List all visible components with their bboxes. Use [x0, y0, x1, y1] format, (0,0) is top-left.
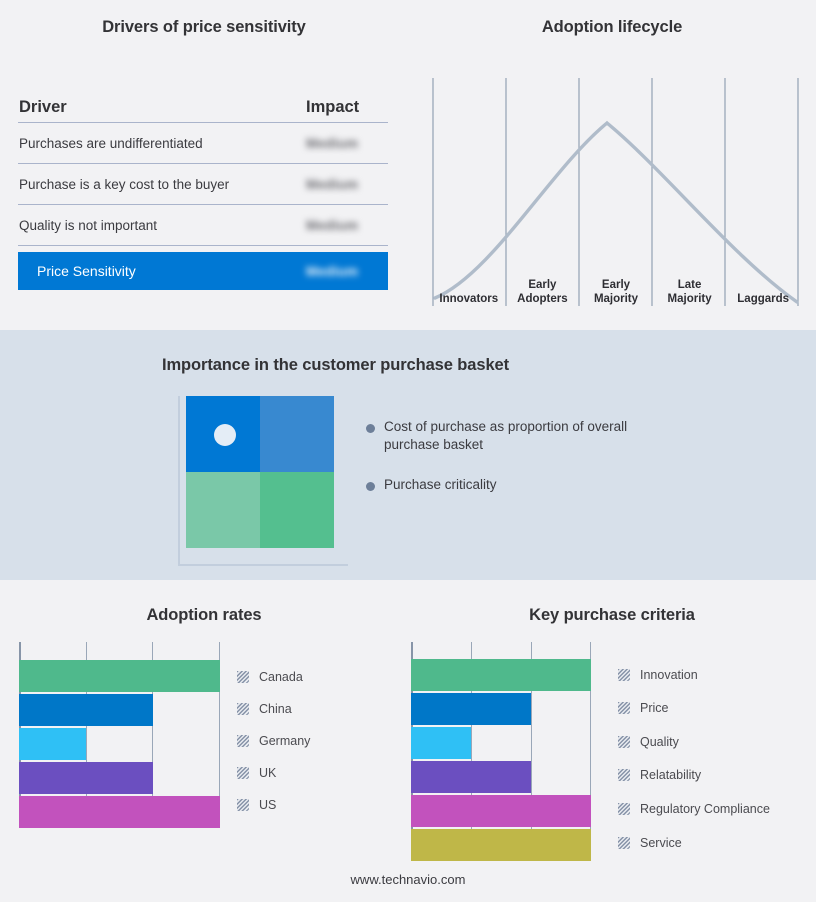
bar-china: [19, 694, 153, 726]
legend-item-quality: Quality: [618, 735, 679, 749]
quadrant-bottom-left: [186, 472, 260, 548]
legend-label: Regulatory Compliance: [640, 802, 770, 816]
legend-label: China: [259, 702, 292, 716]
hatched-square-icon: [237, 735, 249, 747]
legend-label: US: [259, 798, 276, 812]
key-purchase-criteria-legend: Innovation Price Quality Relatability Re…: [618, 642, 813, 852]
key-purchase-criteria-title: Key purchase criteria: [408, 606, 816, 625]
drivers-table: Driver Impact Purchases are undifferenti…: [18, 92, 388, 290]
legend-item: Cost of purchase as proportion of overal…: [366, 418, 666, 454]
hatched-square-icon: [618, 736, 630, 748]
drivers-panel-title: Drivers of price sensitivity: [0, 18, 408, 37]
lifecycle-stage-laggards: Laggards: [726, 292, 800, 310]
quadrant-top-right: [260, 396, 334, 472]
lifecycle-stage-innovators: Innovators: [432, 292, 506, 310]
hatched-square-icon: [237, 799, 249, 811]
hatched-square-icon: [237, 671, 249, 683]
legend-item-germany: Germany: [237, 734, 310, 748]
importance-panel: Importance in the customer purchase bask…: [0, 330, 816, 580]
hatched-square-icon: [618, 803, 630, 815]
footer-url: www.technavio.com: [0, 872, 816, 887]
bar-canada: [19, 660, 220, 692]
bar-service: [411, 829, 591, 861]
column-header-impact: Impact: [302, 98, 388, 117]
hatched-square-icon: [618, 702, 630, 714]
bar-regulatory-compliance: [411, 795, 591, 827]
legend-item-price: Price: [618, 701, 668, 715]
legend-item-relatability: Relatability: [618, 768, 701, 782]
lifecycle-stage-early-adopters: Early Adopters: [506, 278, 580, 310]
driver-label: Purchases are undifferentiated: [18, 136, 302, 151]
legend-item-china: China: [237, 702, 292, 716]
hatched-square-icon: [618, 769, 630, 781]
table-header-row: Driver Impact: [18, 92, 388, 123]
legend-label: Innovation: [640, 668, 698, 682]
driver-label: Purchase is a key cost to the buyer: [18, 177, 302, 192]
key-purchase-criteria-chart: [411, 642, 591, 838]
hatched-square-icon: [618, 669, 630, 681]
legend-label: Germany: [259, 734, 310, 748]
legend-item-uk: UK: [237, 766, 276, 780]
impact-value: Medium: [302, 218, 388, 233]
summary-label: Price Sensitivity: [36, 263, 302, 279]
legend-item: Purchase criticality: [366, 476, 666, 494]
drivers-panel: Drivers of price sensitivity Driver Impa…: [0, 0, 408, 330]
quadrant-bottom-right: [260, 472, 334, 548]
legend-label: Relatability: [640, 768, 701, 782]
legend-label: Canada: [259, 670, 303, 684]
bar-uk: [19, 762, 153, 794]
impact-value: Medium: [302, 177, 388, 192]
summary-impact-value: Medium: [302, 264, 388, 279]
legend-item-us: US: [237, 798, 276, 812]
bullet-icon: [366, 424, 375, 433]
quadrant-grid: [186, 396, 334, 548]
table-row: Purchases are undifferentiated Medium: [18, 123, 388, 164]
lifecycle-stage-late-majority: Late Majority: [653, 278, 727, 310]
bar-innovation: [411, 659, 591, 691]
legend-label: Quality: [640, 735, 679, 749]
legend-label: Service: [640, 836, 682, 850]
lifecycle-stage-labels: Innovators Early Adopters Early Majority…: [432, 270, 800, 310]
adoption-rates-title: Adoption rates: [0, 606, 408, 625]
price-sensitivity-summary-row: Price Sensitivity Medium: [18, 252, 388, 290]
bar-quality: [411, 727, 471, 759]
lifecycle-stage-early-majority: Early Majority: [579, 278, 653, 310]
importance-legend: Cost of purchase as proportion of overal…: [366, 418, 666, 516]
infographic-page: Drivers of price sensitivity Driver Impa…: [0, 0, 816, 902]
adoption-lifecycle-panel: Adoption lifecycle Innovators Early Adop…: [408, 0, 816, 330]
bar-germany: [19, 728, 86, 760]
hatched-square-icon: [237, 703, 249, 715]
table-row: Purchase is a key cost to the buyer Medi…: [18, 164, 388, 205]
legend-item-innovation: Innovation: [618, 668, 698, 682]
key-purchase-criteria-panel: Key purchase criteria Innovation: [408, 580, 816, 902]
legend-label: UK: [259, 766, 276, 780]
quadrant-position-marker: [214, 424, 236, 446]
impact-value: Medium: [302, 136, 388, 151]
legend-item-regulatory-compliance: Regulatory Compliance: [618, 802, 770, 816]
importance-panel-title: Importance in the customer purchase bask…: [162, 356, 509, 375]
bar-us: [19, 796, 220, 828]
hatched-square-icon: [618, 837, 630, 849]
table-row: Quality is not important Medium: [18, 205, 388, 246]
bar-price: [411, 693, 531, 725]
driver-label: Quality is not important: [18, 218, 302, 233]
bullet-icon: [366, 482, 375, 491]
chart-bars: [411, 642, 591, 838]
legend-label: Price: [640, 701, 668, 715]
legend-item-label: Purchase criticality: [384, 476, 497, 494]
legend-item-canada: Canada: [237, 670, 303, 684]
adoption-rates-panel: Adoption rates Canada: [0, 580, 408, 902]
legend-item-label: Cost of purchase as proportion of overal…: [384, 418, 634, 454]
quadrant-top-left: [186, 396, 260, 472]
adoption-rates-chart: [19, 642, 220, 804]
column-header-driver: Driver: [18, 98, 302, 117]
legend-item-service: Service: [618, 836, 682, 850]
quadrant-chart: [178, 396, 348, 566]
hatched-square-icon: [237, 767, 249, 779]
adoption-lifecycle-title: Adoption lifecycle: [408, 18, 816, 37]
adoption-rates-legend: Canada China Germany UK US: [237, 642, 397, 822]
bar-relatability: [411, 761, 531, 793]
chart-bars: [19, 642, 220, 804]
